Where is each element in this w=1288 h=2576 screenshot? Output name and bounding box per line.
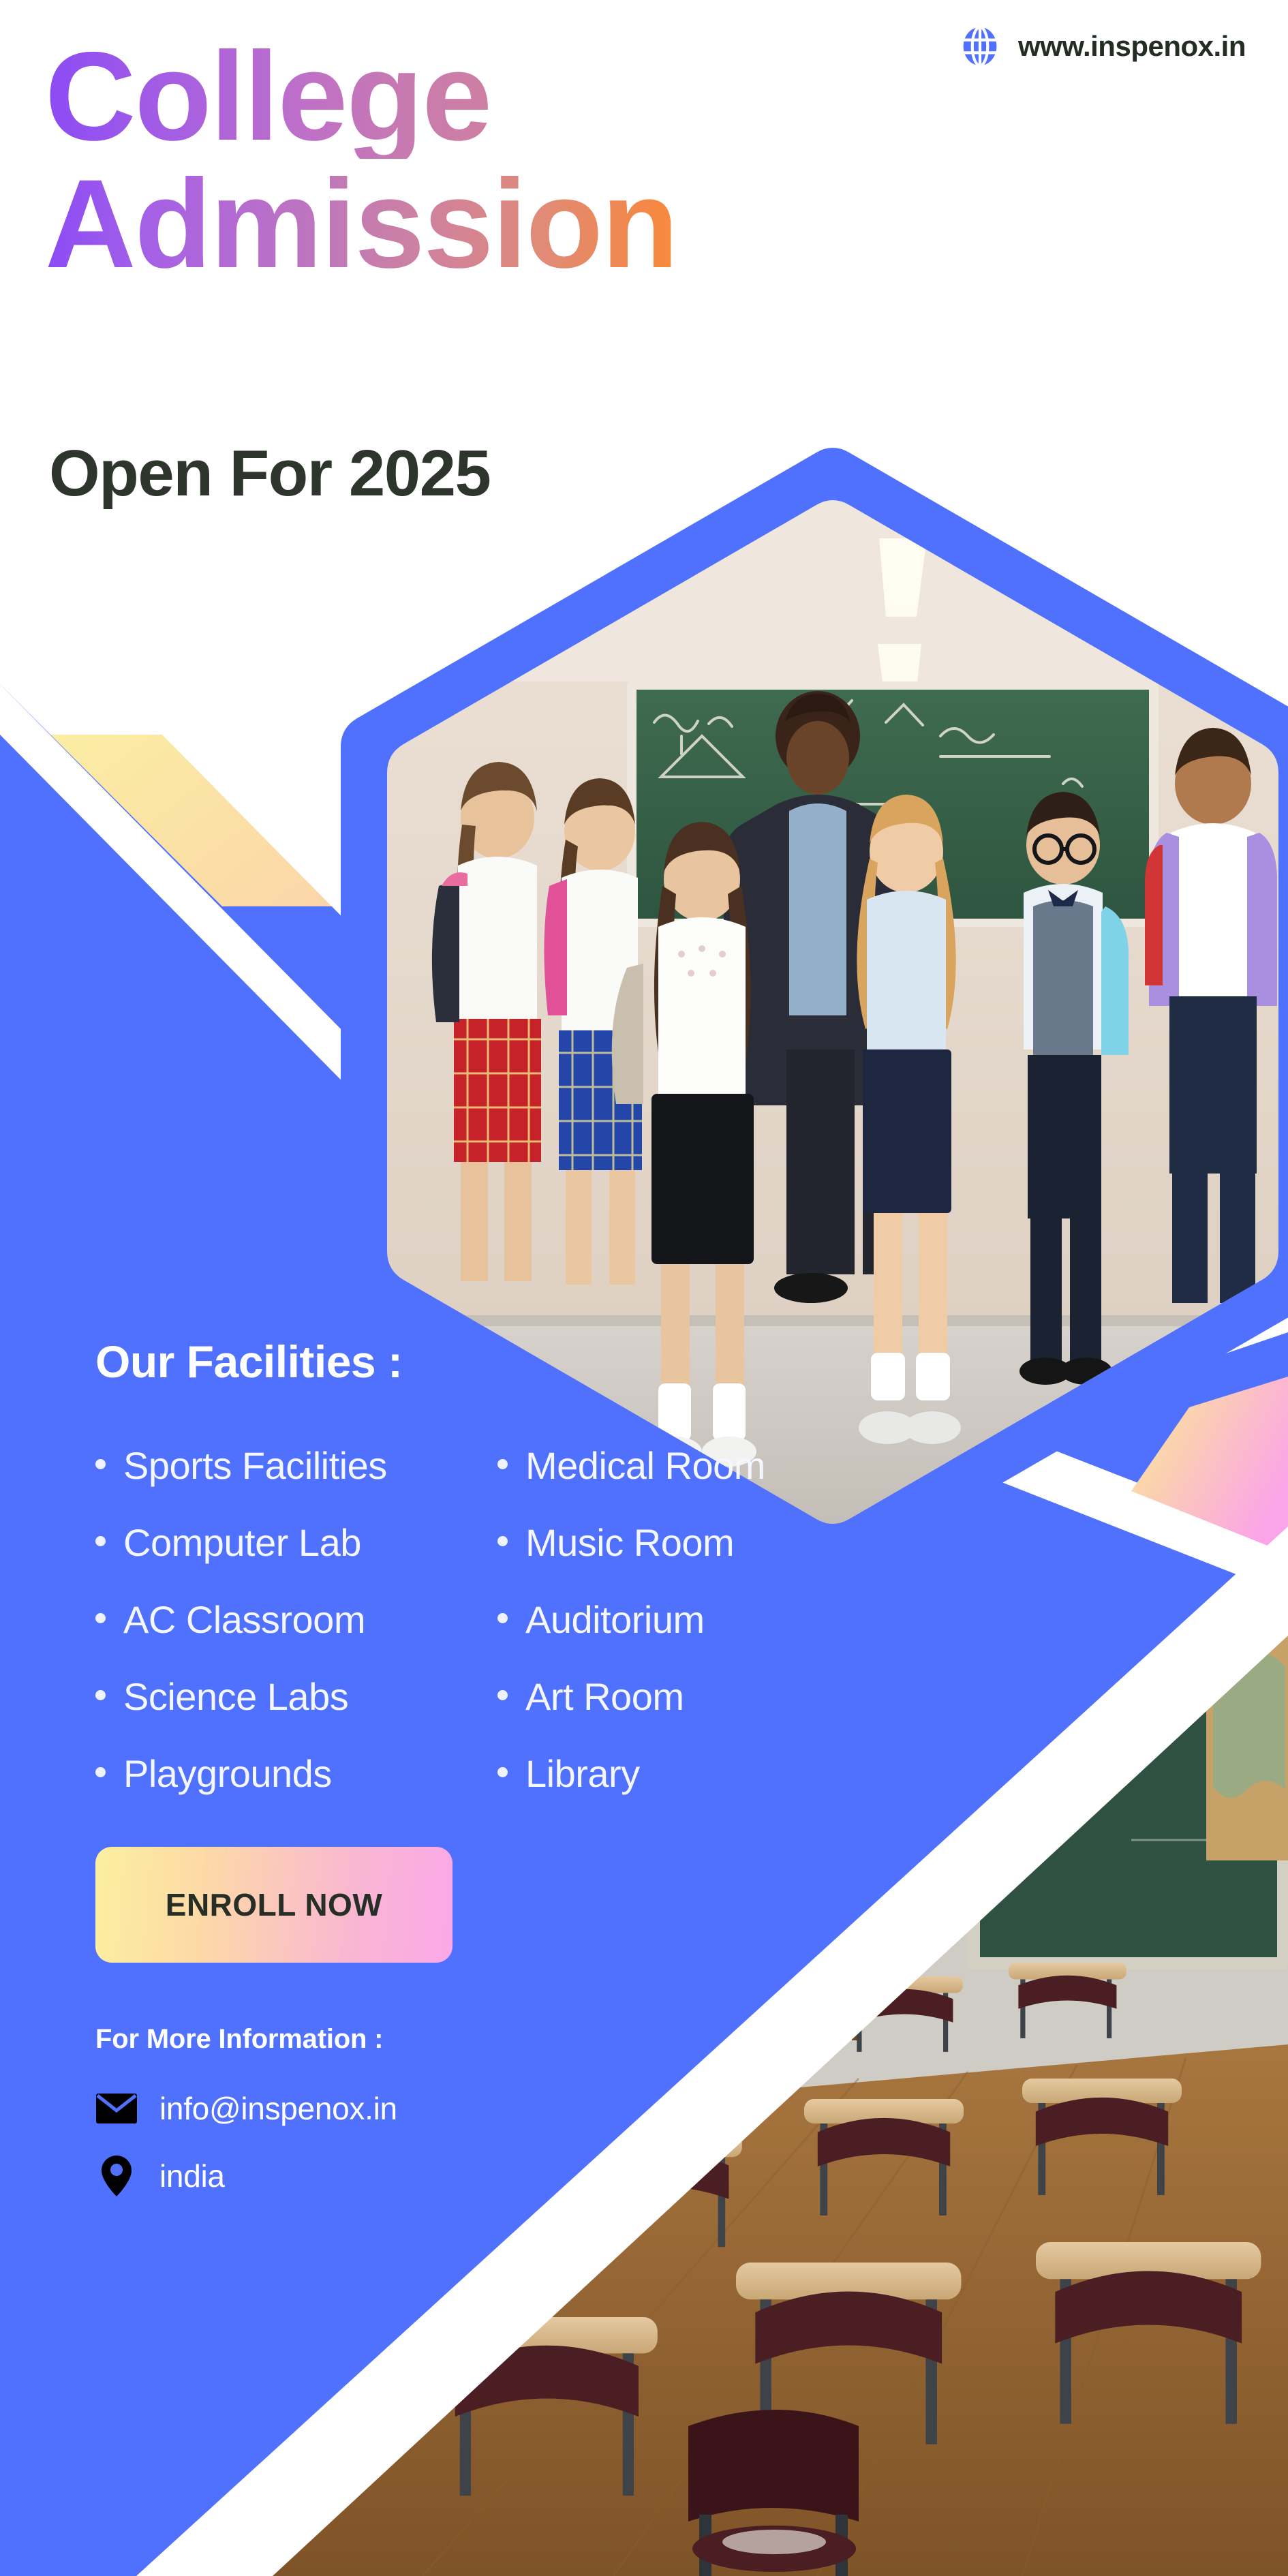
bullet-icon (95, 1459, 106, 1469)
site-url-badge[interactable]: www.inspenox.in (960, 26, 1246, 67)
list-item: Music Room (497, 1520, 879, 1565)
globe-icon (960, 26, 1000, 67)
bullet-icon (497, 1767, 508, 1777)
list-item: Sports Facilities (95, 1443, 477, 1488)
bullet-icon (95, 1690, 106, 1700)
envelope-icon (95, 2093, 138, 2124)
foreground-chair (688, 2410, 859, 2576)
title-line-college: College (45, 35, 677, 159)
facility-label: Music Room (525, 1520, 734, 1565)
bullet-icon (497, 1690, 508, 1700)
hero-subtitle: Open For 2025 (49, 436, 490, 511)
bullet-icon (95, 1767, 106, 1777)
bullet-icon (497, 1536, 508, 1546)
list-item: AC Classroom (95, 1597, 477, 1642)
title-line-admission: Admission (45, 163, 677, 286)
list-item: Auditorium (497, 1597, 879, 1642)
facilities-column-left: Sports Facilities Computer Lab AC Classr… (95, 1443, 477, 1828)
facility-label: Art Room (525, 1674, 684, 1719)
contact-heading: For More Information : (95, 2024, 397, 2055)
facility-label: Sports Facilities (123, 1443, 387, 1488)
list-item: Computer Lab (95, 1520, 477, 1565)
bullet-icon (95, 1613, 106, 1623)
contact-location-row[interactable]: india (95, 2156, 397, 2196)
list-item: Playgrounds (95, 1751, 477, 1796)
facility-label: Medical Room (525, 1443, 765, 1488)
contact-email-row[interactable]: info@inspenox.in (95, 2090, 397, 2127)
facilities-heading: Our Facilities : (95, 1336, 900, 1387)
bullet-icon (497, 1613, 508, 1623)
facility-label: AC Classroom (123, 1597, 365, 1642)
list-item: Library (497, 1751, 879, 1796)
email-text: info@inspenox.in (159, 2090, 397, 2127)
facility-label: Playgrounds (123, 1751, 332, 1796)
bullet-icon (497, 1459, 508, 1469)
facilities-column-right: Medical Room Music Room Auditorium Art R… (497, 1443, 879, 1828)
poster-root: www.inspenox.in College Admission Open F… (0, 0, 1288, 2576)
hero-title: College Admission (45, 35, 677, 287)
list-item: Medical Room (497, 1443, 879, 1488)
website-url-text: www.inspenox.in (1018, 30, 1246, 63)
list-item: Art Room (497, 1674, 879, 1719)
facility-label: Science Labs (123, 1674, 348, 1719)
facility-label: Computer Lab (123, 1520, 361, 1565)
map-pin-icon (95, 2156, 138, 2196)
bullet-icon (95, 1536, 106, 1546)
location-text: india (159, 2158, 225, 2194)
facilities-section: Our Facilities : Sports Facilities Compu… (95, 1336, 900, 1828)
enroll-now-button[interactable]: ENROLL NOW (95, 1847, 453, 1963)
contact-section: For More Information : info@inspenox.in … (95, 2024, 397, 2225)
facility-label: Auditorium (525, 1597, 705, 1642)
facility-label: Library (525, 1751, 640, 1796)
list-item: Science Labs (95, 1674, 477, 1719)
